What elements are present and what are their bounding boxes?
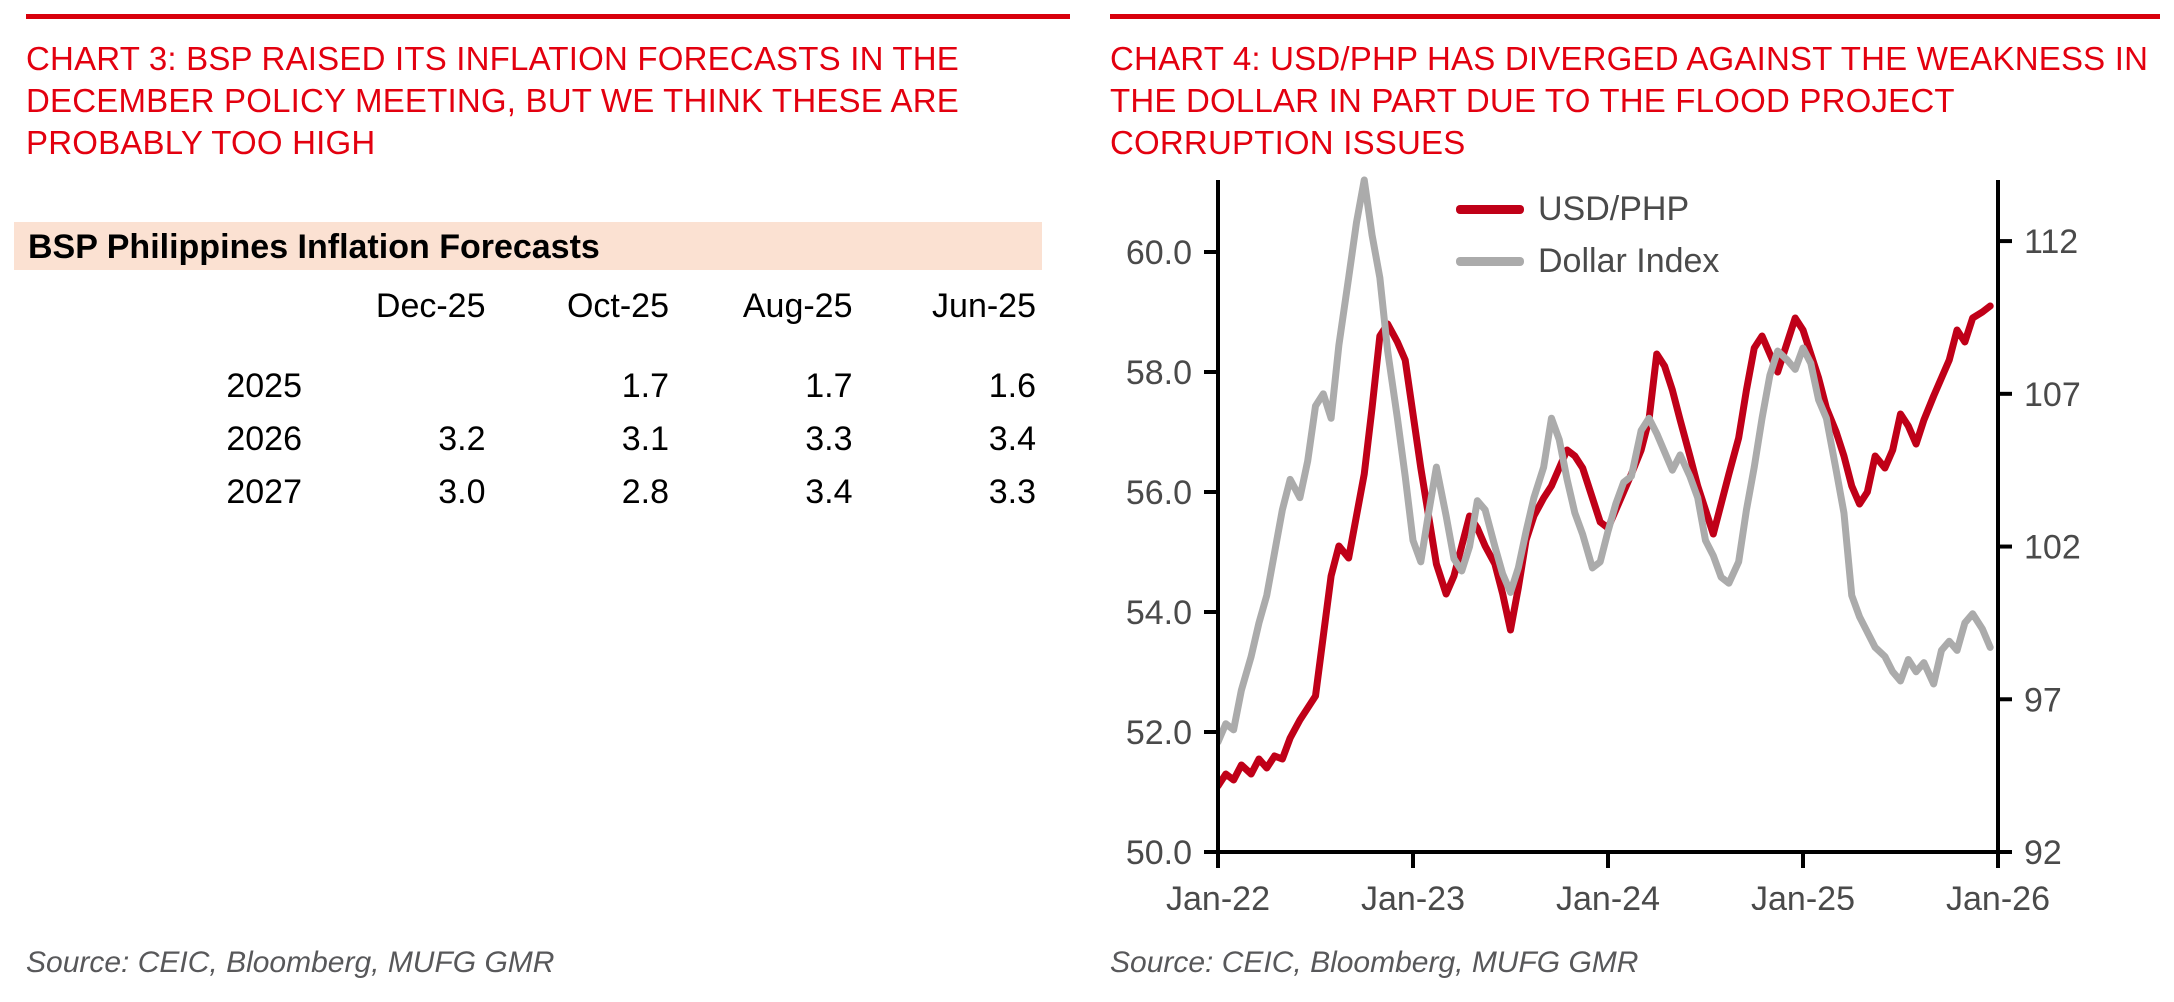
legend-swatch-dollar-index <box>1456 257 1524 266</box>
cell-2026-oct25: 3.1 <box>492 413 676 466</box>
chart-page: CHART 3: BSP RAISED ITS INFLATION FORECA… <box>0 0 2174 1002</box>
source-note-left: Source: CEIC, Bloomberg, MUFG GMR <box>26 946 554 980</box>
forecast-table: Dec-25 Oct-25 Aug-25 Jun-25 2025 1.7 1.7… <box>14 280 1042 519</box>
left-panel: CHART 3: BSP RAISED ITS INFLATION FORECA… <box>0 0 1088 1002</box>
table-row: 2025 1.7 1.7 1.6 <box>14 360 1042 413</box>
right-panel: CHART 4: USD/PHP HAS DIVERGED AGAINST TH… <box>1088 0 2174 1002</box>
inflation-forecast-table: BSP Philippines Inflation Forecasts Dec-… <box>14 222 1042 519</box>
cell-2025-aug25: 1.7 <box>675 360 859 413</box>
table-row: 2027 3.0 2.8 3.4 3.3 <box>14 466 1042 519</box>
table-caption-band: BSP Philippines Inflation Forecasts <box>14 222 1042 270</box>
right-axis-ticklabel: 102 <box>2024 529 2081 567</box>
left-axis-ticklabel: 60.0 <box>1126 234 1192 272</box>
left-axis-ticklabel: 56.0 <box>1126 474 1192 512</box>
source-note-right: Source: CEIC, Bloomberg, MUFG GMR <box>1110 946 1638 980</box>
row-label-2025: 2025 <box>14 360 308 413</box>
usdphp-dxy-line-chart: 50.052.054.056.058.060.09297102107112Jan… <box>1088 150 2174 910</box>
cell-2026-jun25: 3.4 <box>859 413 1043 466</box>
top-rule-left <box>26 14 1070 19</box>
col-header-dec25: Dec-25 <box>308 280 492 360</box>
chart-legend: USD/PHP Dollar Index <box>1456 183 1719 287</box>
legend-item-dollar-index: Dollar Index <box>1456 235 1719 287</box>
x-axis-ticklabel: Jan-22 <box>1166 880 1270 910</box>
table-row: 2026 3.2 3.1 3.3 3.4 <box>14 413 1042 466</box>
chart4-title: CHART 4: USD/PHP HAS DIVERGED AGAINST TH… <box>1110 38 2165 164</box>
table-corner-cell <box>14 280 308 360</box>
cell-2025-oct25: 1.7 <box>492 360 676 413</box>
left-axis-ticklabel: 58.0 <box>1126 354 1192 392</box>
right-axis-ticklabel: 92 <box>2024 834 2062 872</box>
left-axis-ticklabel: 50.0 <box>1126 834 1192 872</box>
legend-label-usdphp: USD/PHP <box>1538 190 1689 229</box>
table-header-row: Dec-25 Oct-25 Aug-25 Jun-25 <box>14 280 1042 360</box>
chart3-title: CHART 3: BSP RAISED ITS INFLATION FORECA… <box>26 38 1036 164</box>
x-axis-ticklabel: Jan-26 <box>1946 880 2050 910</box>
top-rule-right <box>1110 14 2160 19</box>
cell-2027-aug25: 3.4 <box>675 466 859 519</box>
left-axis-ticklabel: 52.0 <box>1126 714 1192 752</box>
left-axis-ticklabel: 54.0 <box>1126 594 1192 632</box>
col-header-oct25: Oct-25 <box>492 280 676 360</box>
cell-2026-aug25: 3.3 <box>675 413 859 466</box>
right-axis-ticklabel: 97 <box>2024 681 2062 719</box>
legend-item-usdphp: USD/PHP <box>1456 183 1719 235</box>
x-axis-ticklabel: Jan-25 <box>1751 880 1855 910</box>
legend-swatch-usdphp <box>1456 205 1524 214</box>
row-label-2026: 2026 <box>14 413 308 466</box>
right-axis-ticklabel: 107 <box>2024 376 2081 414</box>
legend-label-dollar-index: Dollar Index <box>1538 242 1719 281</box>
cell-2027-jun25: 3.3 <box>859 466 1043 519</box>
table-caption: BSP Philippines Inflation Forecasts <box>28 228 600 266</box>
row-label-2027: 2027 <box>14 466 308 519</box>
cell-2025-dec25 <box>308 360 492 413</box>
cell-2027-oct25: 2.8 <box>492 466 676 519</box>
cell-2025-jun25: 1.6 <box>859 360 1043 413</box>
right-axis-ticklabel: 112 <box>2024 223 2078 261</box>
col-header-jun25: Jun-25 <box>859 280 1043 360</box>
cell-2027-dec25: 3.0 <box>308 466 492 519</box>
cell-2026-dec25: 3.2 <box>308 413 492 466</box>
col-header-aug25: Aug-25 <box>675 280 859 360</box>
x-axis-ticklabel: Jan-23 <box>1361 880 1465 910</box>
x-axis-ticklabel: Jan-24 <box>1556 880 1660 910</box>
